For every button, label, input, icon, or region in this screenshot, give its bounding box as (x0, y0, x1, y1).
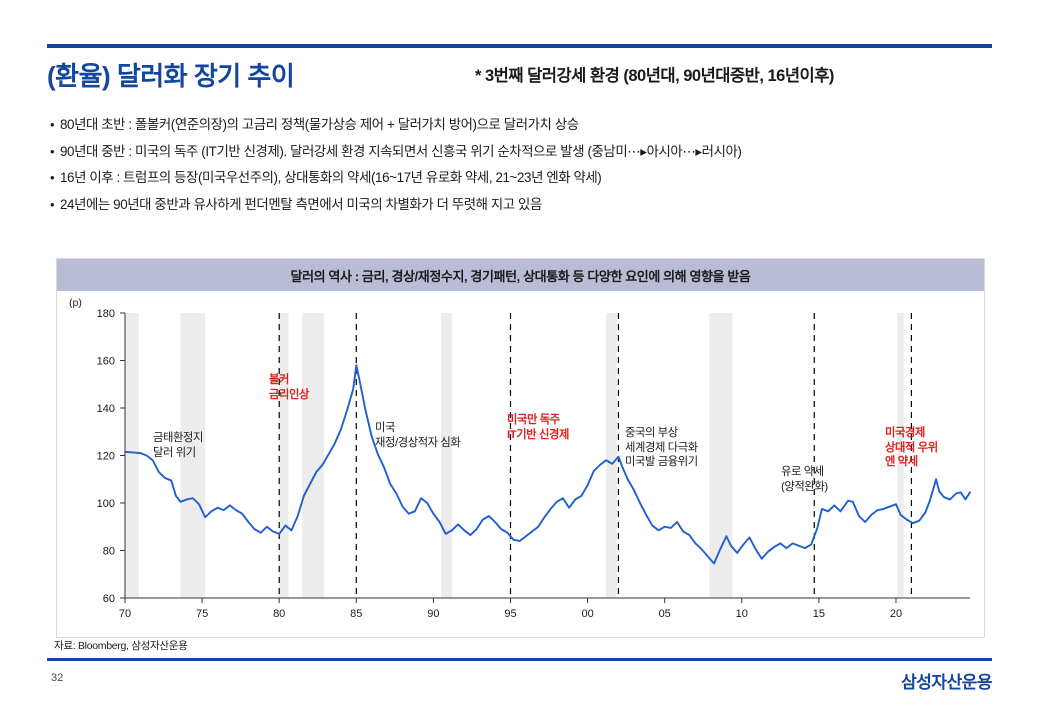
chart-annotation-us-deficits: 미국 재정/경상적자 심화 (375, 421, 460, 450)
slide: (환율) 달러화 장기 추이 * 3번째 달러강세 환경 (80년대, 90년대… (0, 0, 1040, 720)
header-top-rule (47, 44, 992, 48)
bullet-marker-icon: • (50, 192, 60, 219)
recession-band (125, 313, 139, 598)
dollar-index-line-chart: 6080100120140160180707580859095000510152… (57, 291, 984, 638)
chart-annotation-us-new-economy: 미국만 독주 IT기반 신경제 (507, 413, 569, 442)
list-item: • 16년 이후 : 트럼프의 등장(미국우선주의), 상대통화의 약세(16~… (50, 165, 1010, 192)
svg-text:15: 15 (813, 608, 825, 620)
chart-source-note: 자료: Bloomberg, 삼성자산운용 (54, 638, 187, 653)
recession-band (441, 313, 452, 598)
svg-text:95: 95 (504, 608, 516, 620)
chart-annotation-china-rise: 중국의 부상 세계경제 다극화 미국발 금융위기 (625, 426, 698, 470)
bullet-marker-icon: • (50, 165, 60, 192)
brand-logo: 삼성자산운용 (901, 668, 992, 693)
bullet-marker-icon: • (50, 139, 60, 166)
svg-text:05: 05 (659, 608, 671, 620)
list-item: • 24년에는 90년대 중반과 유사하게 펀더멘탈 측면에서 미국의 차별화가… (50, 192, 1010, 219)
chart-panel: 달러의 역사 : 금리, 경상/재정수지, 경기패턴, 상대통화 등 다양한 요… (56, 258, 985, 638)
bullet-text: 90년대 중반 : 미국의 독주 (IT기반 신경제). 달러강세 환경 지속되… (60, 139, 741, 166)
svg-text:180: 180 (97, 308, 115, 320)
chart-annotation-gold-standard: 금태환정지 달러 위기 (153, 431, 203, 460)
svg-text:85: 85 (350, 608, 362, 620)
footer-rule (47, 658, 992, 661)
list-item: • 90년대 중반 : 미국의 독주 (IT기반 신경제). 달러강세 환경 지… (50, 139, 1010, 166)
recession-band (302, 313, 324, 598)
bullet-marker-icon: • (50, 112, 60, 139)
bullet-text: 16년 이후 : 트럼프의 등장(미국우선주의), 상대통화의 약세(16~17… (60, 165, 601, 192)
svg-text:10: 10 (736, 608, 748, 620)
page-title: (환율) 달러화 장기 추이 (47, 56, 294, 93)
bullet-list: • 80년대 초반 : 폴볼커(연준의장)의 고금리 정책(물가상승 제어 + … (50, 112, 1010, 218)
bullet-text: 80년대 초반 : 폴볼커(연준의장)의 고금리 정책(물가상승 제어 + 달러… (60, 112, 579, 139)
recession-band (709, 313, 732, 598)
svg-text:160: 160 (97, 356, 115, 368)
svg-text:100: 100 (97, 498, 115, 510)
title-row: (환율) 달러화 장기 추이 * 3번째 달러강세 환경 (80년대, 90년대… (47, 56, 992, 94)
svg-text:80: 80 (273, 608, 285, 620)
svg-text:140: 140 (97, 403, 115, 415)
svg-text:00: 00 (581, 608, 593, 620)
recession-band (606, 313, 617, 598)
chart-annotation-us-advantage: 미국경제 상대적 우위 엔 약세 (885, 426, 938, 470)
recession-band (279, 313, 288, 598)
page-subtitle: * 3번째 달러강세 환경 (80년대, 90년대중반, 16년이후) (475, 62, 834, 86)
list-item: • 80년대 초반 : 폴볼커(연준의장)의 고금리 정책(물가상승 제어 + … (50, 112, 1010, 139)
chart-annotation-euro-weak: 유로 약세 (양적완화) (781, 465, 828, 494)
svg-text:20: 20 (890, 608, 902, 620)
chart-annotation-volcker: 볼커 금리인상 (269, 373, 309, 402)
page-number: 32 (51, 672, 63, 684)
bullet-text: 24년에는 90년대 중반과 유사하게 펀더멘탈 측면에서 미국의 차별화가 더… (60, 192, 542, 219)
svg-text:80: 80 (103, 546, 115, 558)
svg-text:90: 90 (427, 608, 439, 620)
chart-band-title: 달러의 역사 : 금리, 경상/재정수지, 경기패턴, 상대통화 등 다양한 요… (57, 259, 984, 291)
chart-plot-area: (p) 608010012014016018070758085909500051… (57, 291, 984, 638)
svg-text:75: 75 (196, 608, 208, 620)
svg-text:60: 60 (103, 593, 115, 605)
svg-text:120: 120 (97, 451, 115, 463)
series-line (125, 365, 970, 563)
svg-text:70: 70 (119, 608, 131, 620)
